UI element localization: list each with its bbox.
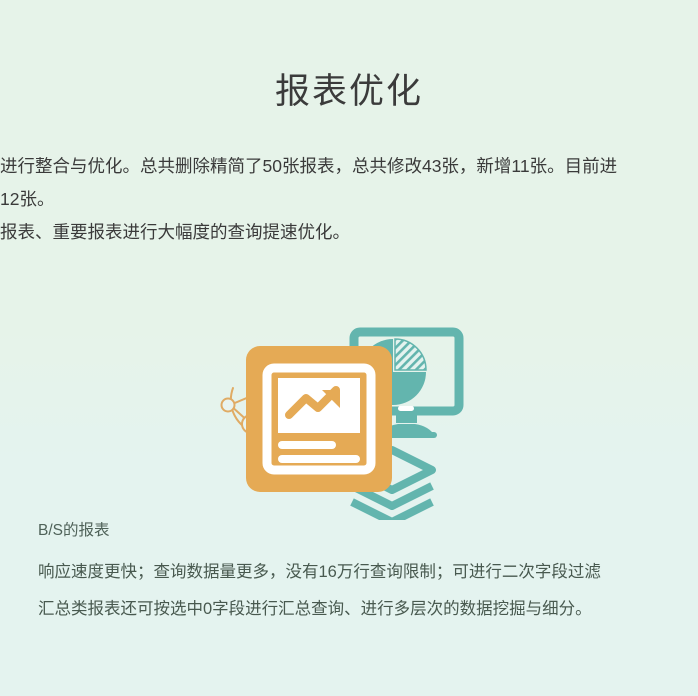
slide-page: 报表优化 现有报表进行整合与优化。总共删除精简了50张报表，总共修改43张，新增… [0,0,698,696]
bs-report-line-1: 响应速度更快；查询数据量更多，没有16万行查询限制；可进行二次字段过滤 [38,554,678,591]
intro-line-3: 时对常用报表、重要报表进行大幅度的查询提速优化。 [0,216,698,249]
report-optimization-illustration [160,310,500,520]
intro-paragraph: 现有报表进行整合与优化。总共删除精简了50张报表，总共修改43张，新增11张。目… [0,150,698,249]
report-card-icon [246,346,392,492]
bs-report-line-2: 汇总类报表还可按选中0字段进行汇总查询、进行多层次的数据挖掘与细分。 [38,591,678,628]
intro-line-2: 构报表有12张。 [0,183,698,216]
bs-report-heading: B/S的报表 [38,518,678,544]
page-title: 报表优化 [0,70,698,114]
bs-report-section: B/S的报表 响应速度更快；查询数据量更多，没有16万行查询限制；可进行二次字段… [38,518,678,628]
intro-line-1: 现有报表进行整合与优化。总共删除精简了50张报表，总共修改43张，新增11张。目… [0,150,698,183]
